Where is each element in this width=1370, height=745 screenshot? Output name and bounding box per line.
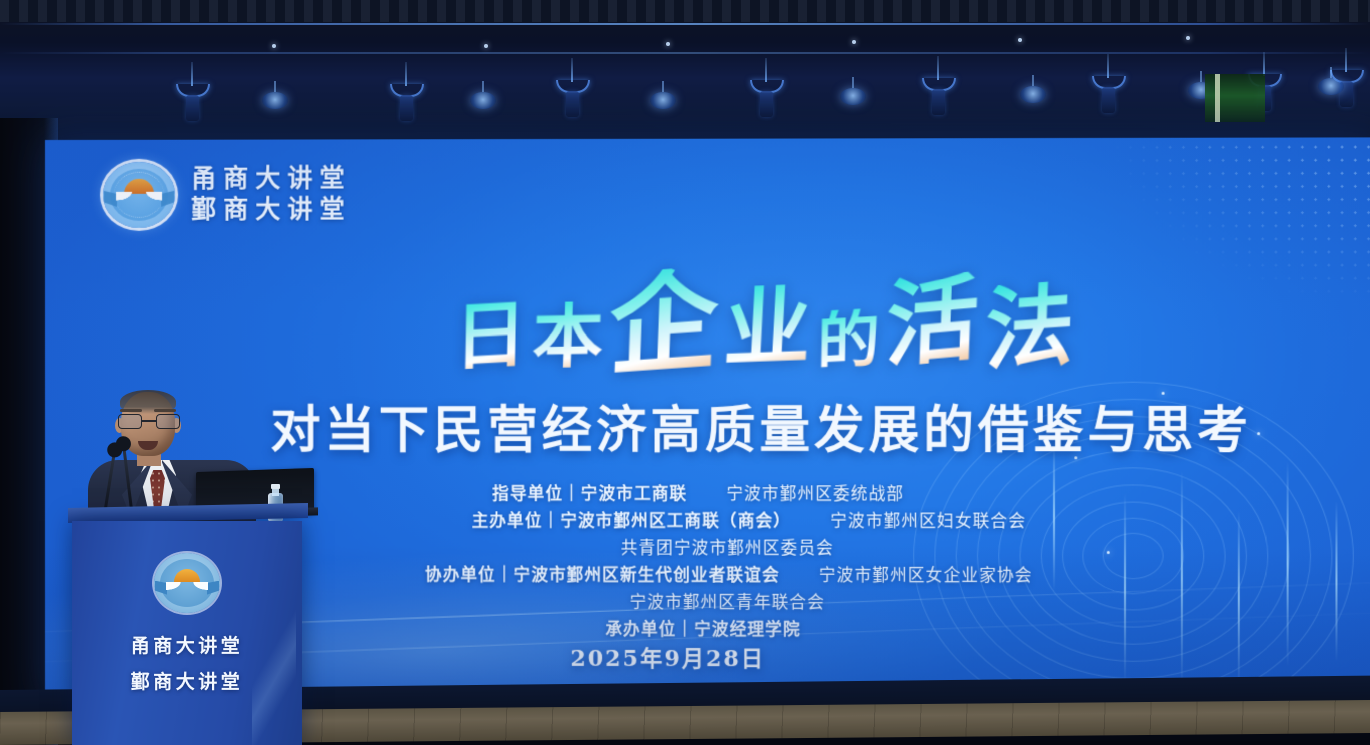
title-char-5: 的 <box>817 308 881 374</box>
stage-scene: 甬商大讲堂 鄞商大讲堂 日 本 企 业 的 活 法 对当下民营经济高质量发展的借… <box>0 0 1370 745</box>
title-char-4: 业 <box>722 284 813 374</box>
brand-line-1: 甬商大讲堂 <box>191 165 352 194</box>
credit-label-host: 主办单位｜宁波市鄞州区工商联（商会） <box>472 511 791 530</box>
podium-highlight <box>252 595 296 745</box>
title-char-7: 法 <box>984 280 1076 375</box>
stage-light-icon <box>1092 54 1126 106</box>
podium-sunrise-book-emblem-icon <box>154 553 220 613</box>
sunrise-book-emblem-icon <box>103 162 175 228</box>
exit-sign-glow <box>1205 74 1265 122</box>
par-light-icon <box>1318 78 1344 95</box>
title-char-3: 企 <box>607 265 720 382</box>
ceiling-slats <box>0 0 1370 22</box>
par-light-icon <box>262 92 288 109</box>
podium: 甬商大讲堂 鄞商大讲堂 <box>72 521 302 745</box>
ceiling-light-band-2 <box>0 52 1370 54</box>
stage-ceiling <box>0 0 1370 142</box>
title-char-2: 本 <box>531 301 604 373</box>
title-char-6: 活 <box>884 271 980 372</box>
par-light-icon <box>1020 86 1046 103</box>
page-title: 日 本 企 业 的 活 法 <box>366 251 1164 372</box>
stage-light-icon <box>176 62 210 114</box>
brand-lockup: 甬商大讲堂 鄞商大讲堂 <box>103 161 352 227</box>
credit-label-organizer: 承办单位｜宁波经理学院 <box>605 620 800 639</box>
stage-light-icon <box>750 58 784 110</box>
ceiling-light-band <box>0 23 1370 25</box>
presenter-brow-left <box>120 409 142 412</box>
ceiling-spot-icon <box>484 44 488 48</box>
ceiling-spot-icon <box>666 42 670 46</box>
podium-line-2: 鄞商大讲堂 <box>131 667 244 694</box>
title-char-1: 日 <box>454 298 528 374</box>
brand-text: 甬商大讲堂 鄞商大讲堂 <box>191 165 352 225</box>
par-light-icon <box>650 92 676 109</box>
ceiling-spot-icon <box>272 44 276 48</box>
ceiling-spot-icon <box>1018 38 1022 42</box>
ceiling-spot-icon <box>1186 36 1190 40</box>
par-light-icon <box>470 92 496 109</box>
credit-org-host-2: 宁波市鄞州区妇女联合会 <box>830 511 1026 530</box>
stage-light-icon <box>922 56 956 108</box>
presenter-brow-right <box>154 409 176 412</box>
credit-org-coorg-2: 宁波市鄞州区女企业家协会 <box>819 566 1033 585</box>
credit-label-guide: 指导单位｜宁波市工商联 <box>492 484 687 503</box>
glasses-icon <box>118 414 180 429</box>
credit-org-coorg-3: 宁波市鄞州区青年联合会 <box>630 593 825 612</box>
podium-line-1: 甬商大讲堂 <box>131 631 244 658</box>
brand-line-2: 鄞商大讲堂 <box>191 196 352 225</box>
stage-light-icon <box>556 58 590 110</box>
credit-org-host-3: 共青团宁波市鄞州区委员会 <box>621 538 834 557</box>
credit-label-coorg: 协办单位｜宁波市鄞州区新生代创业者联谊会 <box>425 565 780 584</box>
par-light-icon <box>840 88 866 105</box>
stage-light-icon <box>390 62 424 114</box>
ceiling-spot-icon <box>852 40 856 44</box>
page-subtitle: 对当下民营经济高质量发展的借鉴与思考 <box>141 390 1370 463</box>
credit-org-guide-2: 宁波市鄞州区委统战部 <box>726 484 904 503</box>
